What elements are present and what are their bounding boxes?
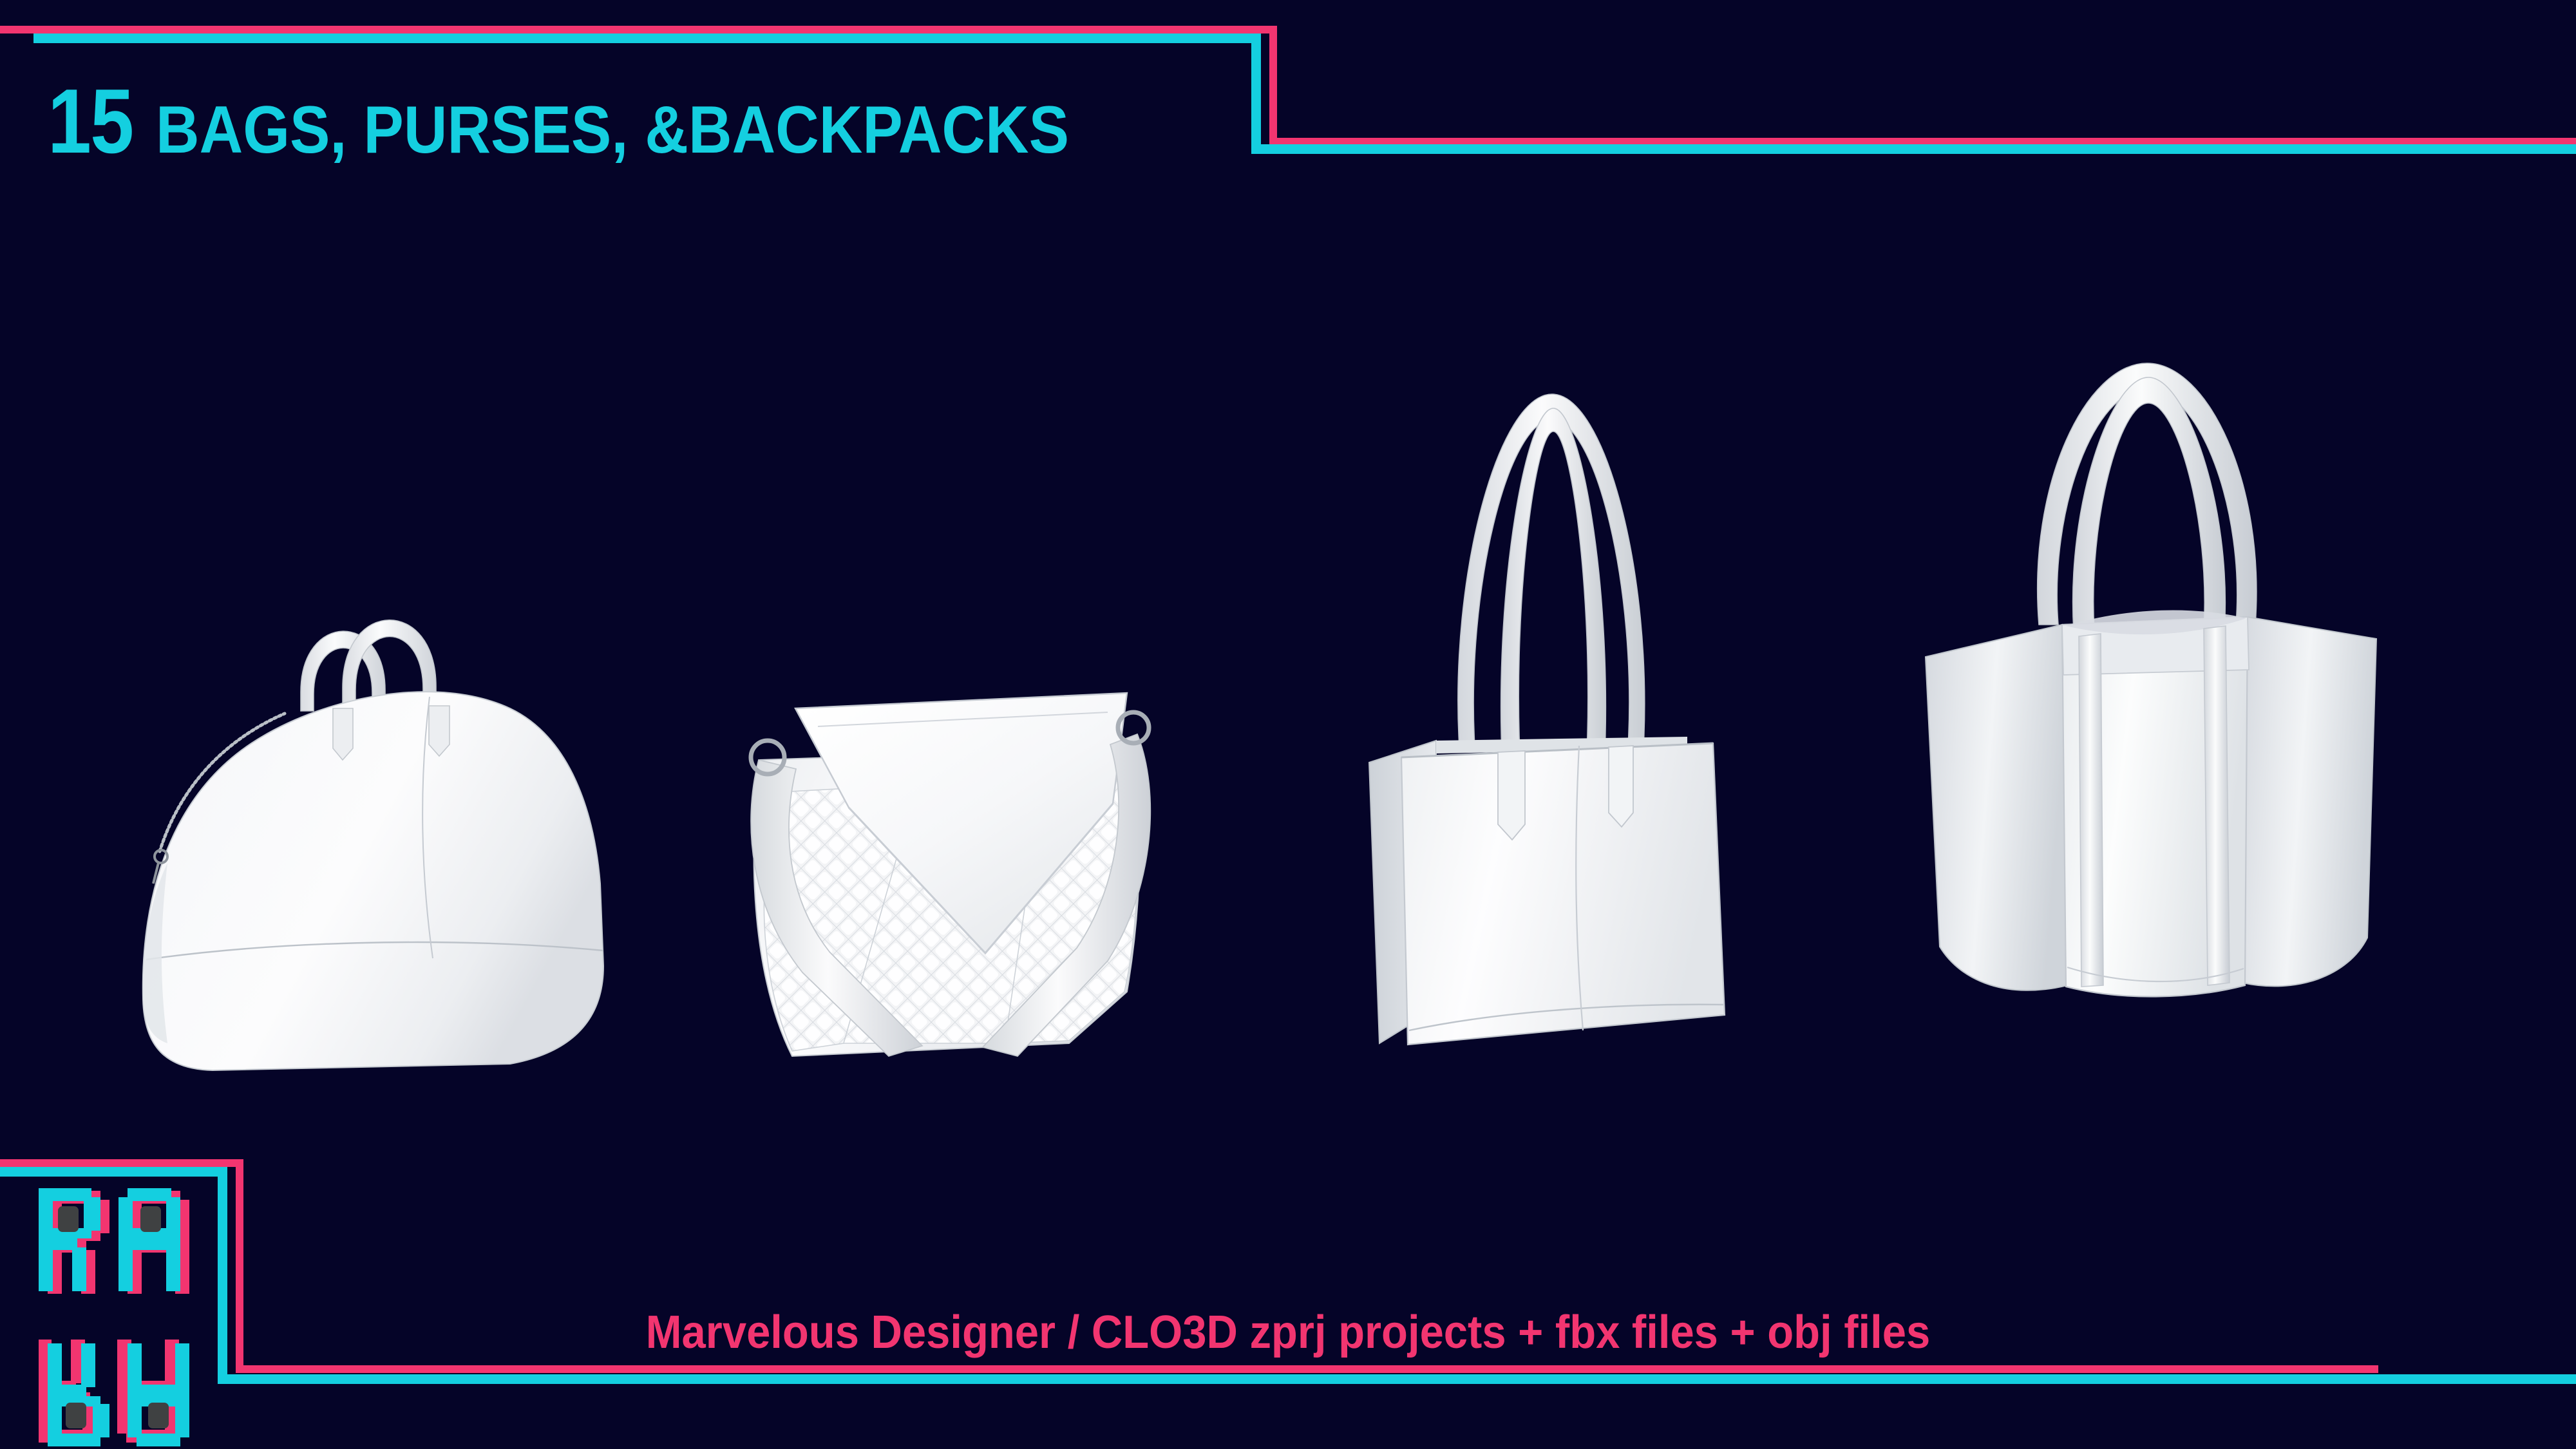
product-structured-tote-bag[interactable] [1327, 361, 1777, 1085]
duffle-handle-tab-right [429, 706, 450, 756]
tote-strap-tab-right [1609, 746, 1633, 827]
duffle-handle-tab-left [333, 708, 353, 760]
footer-rule-cyan-horizontal [218, 1374, 2576, 1384]
shopper-strap-leg-left [2079, 634, 2103, 987]
soft-shopper-tote-illustration [1913, 348, 2389, 1075]
header-rule-pink-horizontal [0, 26, 1277, 33]
title-count: 15 [48, 76, 133, 167]
header-rule-pink-vertical [1269, 26, 1277, 146]
footer-rule-cyan-vertical [218, 1167, 227, 1384]
header-rule-cyan-extension [1251, 144, 2576, 154]
duffle-body [143, 692, 603, 1070]
structured-tote-bag-illustration [1327, 361, 1777, 1082]
ra-glitch-logo[interactable] [39, 1188, 213, 1449]
header-rule-cyan-vertical [1251, 33, 1261, 154]
shopper-wing-right [2242, 617, 2376, 986]
bowling-duffle-bag-illustration [116, 515, 644, 1095]
product-soft-shopper-tote[interactable] [1913, 348, 2389, 1079]
quilted-messenger-bag-illustration [683, 631, 1198, 1082]
shopper-wing-left [1926, 625, 2067, 990]
tote-front-panel [1401, 743, 1725, 1045]
footer-rule-pink-horizontal [236, 1365, 2378, 1373]
product-bowling-duffle-bag[interactable] [116, 515, 644, 1098]
product-gallery [0, 303, 2576, 1172]
tote-strap-outer [1458, 394, 1645, 747]
tote-strap-tab-left [1498, 751, 1525, 840]
promo-slide: 15 BAGS, PURSES, &BACKPACKS [0, 0, 2576, 1449]
page-title: 15 BAGS, PURSES, &BACKPACKS [48, 76, 1171, 167]
footer-caption: Marvelous Designer / CLO3D zprj projects… [90, 1306, 2486, 1359]
footer-rule-pink-vertical [236, 1159, 243, 1373]
title-text: BAGS, PURSES, &BACKPACKS [156, 97, 1069, 164]
product-quilted-messenger-bag[interactable] [683, 631, 1198, 1085]
header-rule-cyan-horizontal [33, 33, 1251, 43]
footer-rule-cyan-top [0, 1167, 227, 1177]
ra-logo-glyphs [39, 1188, 213, 1449]
shopper-strap-leg-right [2204, 626, 2230, 985]
footer-rule-pink-top [0, 1159, 243, 1167]
